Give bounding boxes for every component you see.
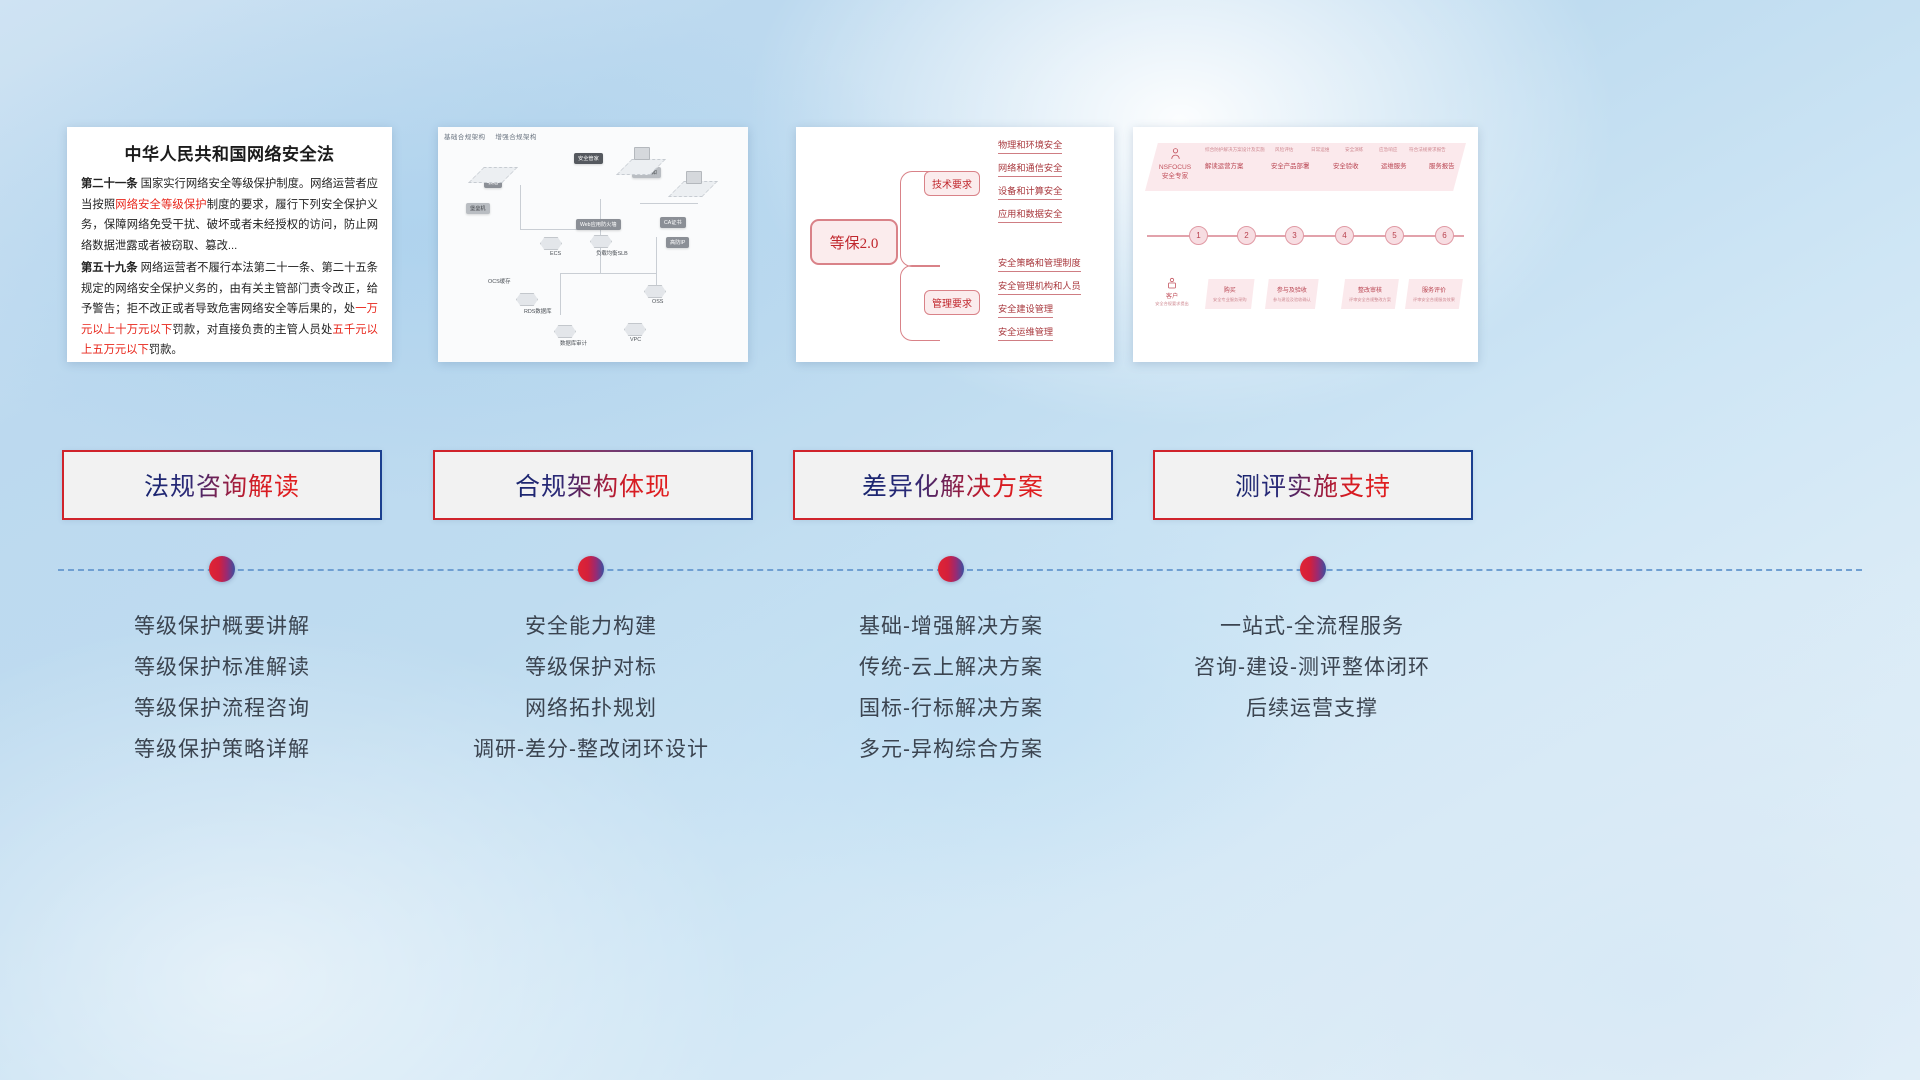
- section-label-box-4[interactable]: 测评实施支持: [1153, 450, 1473, 520]
- arch-hex: [590, 235, 612, 248]
- list-item: 咨询-建设-测评整体闭环: [1132, 647, 1492, 688]
- timeline: [0, 568, 1920, 572]
- nsfocus-note-3: 安全演练: [1345, 147, 1363, 153]
- timeline-dot-1[interactable]: [209, 556, 235, 582]
- arch-node-8: ECS: [550, 251, 561, 257]
- nsfocus-footer-2-title: 整改审核: [1358, 288, 1382, 294]
- mindmap-branch-technical: 技术要求: [924, 171, 980, 196]
- nsfocus-footer-2-note: 评审安全合规整改方案: [1349, 297, 1391, 303]
- nsfocus-step-6: 6: [1435, 226, 1454, 245]
- arch-node-6: 高防IP: [666, 237, 689, 248]
- section-label-text-1: 法规咨询解读: [144, 467, 300, 503]
- timeline-dot-4[interactable]: [1300, 556, 1326, 582]
- mindmap-leaf-t0: 物理和环境安全: [998, 137, 1062, 154]
- nsfocus-footer-0-title: 购买: [1224, 288, 1236, 294]
- law-article-59-text-b: 罚款，对直接负责的主管人员处: [172, 324, 332, 336]
- law-article-59-text-c: 罚款。: [149, 344, 183, 356]
- architecture-canvas: 基础合规架构增强合规架构 安全管家 云盾 堡垒机 态势感知 Web应用防火墙 C…: [438, 127, 748, 362]
- nsfocus-expert: NSFOCUS 安全专家: [1151, 147, 1199, 182]
- nsfocus-band-item-2: 安全验收: [1333, 161, 1359, 170]
- arch-node-4: Web应用防火墙: [576, 219, 621, 230]
- arch-node-2: 堡垒机: [466, 203, 490, 214]
- architecture-nodes: 安全管家 云盾 堡垒机 态势感知 Web应用防火墙 CA证书 高防IP 负载均衡…: [444, 141, 742, 356]
- mindmap-leaf-t1: 网络和通信安全: [998, 160, 1062, 177]
- arch-wire: [520, 185, 521, 229]
- section-label-box-2[interactable]: 合规架构体现: [433, 450, 753, 520]
- nsfocus-customer: 客户 安全合规要求提出: [1151, 277, 1193, 307]
- nsfocus-band-item-4: 服务报告: [1429, 161, 1455, 170]
- section-list-3: 基础-增强解决方案 传统-云上解决方案 国标-行标解决方案 多元-异构综合方案: [771, 606, 1131, 770]
- law-title: 中华人民共和国网络安全法: [81, 140, 378, 165]
- thumbnail-row: 中华人民共和国网络安全法 第二十一条 国家实行网络安全等级保护制度。网络运营者应…: [0, 127, 1920, 362]
- arch-wire: [560, 273, 656, 274]
- list-item: 安全能力构建: [411, 606, 771, 647]
- list-item: 调研-差分-整改闭环设计: [411, 729, 771, 770]
- arch-hex: [540, 237, 562, 250]
- arch-node-0: 安全管家: [574, 153, 603, 164]
- nsfocus-footer-3-note: 评审安全合规服务效果: [1413, 297, 1455, 303]
- arch-hex: [516, 293, 538, 306]
- list-item: 一站式-全流程服务: [1132, 606, 1492, 647]
- nsfocus-note-5: 符合法规要求报告: [1409, 147, 1446, 153]
- architecture-header-enhanced: 增强合规架构: [495, 134, 536, 141]
- list-item: 等级保护流程咨询: [42, 688, 402, 729]
- law-article-21: 第二十一条 国家实行网络安全等级保护制度。网络运营者应当按照网络安全等级保护制度…: [81, 174, 378, 256]
- list-item: 等级保护概要讲解: [42, 606, 402, 647]
- arch-wire: [640, 203, 698, 204]
- section-list-2: 安全能力构建 等级保护对标 网络拓扑规划 调研-差分-整改闭环设计: [411, 606, 771, 770]
- nsfocus-step-5: 5: [1385, 226, 1404, 245]
- nsfocus-canvas: NSFOCUS 安全专家 综合防护解决方案设计及实施 风险评估 日常运维 安全演…: [1133, 127, 1478, 362]
- arch-cube: [686, 171, 702, 184]
- nsfocus-note-2: 日常运维: [1311, 147, 1329, 153]
- card-architecture-diagram[interactable]: 基础合规架构增强合规架构 安全管家 云盾 堡垒机 态势感知 Web应用防火墙 C…: [438, 127, 748, 362]
- nsfocus-note-1: 风险评估: [1275, 147, 1293, 153]
- list-item: 国标-行标解决方案: [771, 688, 1131, 729]
- mindmap-branch-management: 管理要求: [924, 290, 980, 315]
- arch-hex: [644, 285, 666, 298]
- mindmap-leaf-m3: 安全运维管理: [998, 324, 1053, 341]
- nsfocus-band-item-3: 运维服务: [1381, 161, 1407, 170]
- list-item: 基础-增强解决方案: [771, 606, 1131, 647]
- list-item: 传统-云上解决方案: [771, 647, 1131, 688]
- law-article-59: 第五十九条 网络运营者不履行本法第二十一条、第二十五条规定的网络安全保护义务的，…: [81, 258, 378, 361]
- arch-hex: [554, 325, 576, 338]
- nsfocus-step-4: 4: [1335, 226, 1354, 245]
- card-mindmap[interactable]: 等保2.0 技术要求 物理和环境安全 网络和通信安全 设备和计算安全 应用和数据…: [796, 127, 1114, 362]
- timeline-dot-3[interactable]: [938, 556, 964, 582]
- nsfocus-step-2: 2: [1237, 226, 1256, 245]
- card-law-document[interactable]: 中华人民共和国网络安全法 第二十一条 国家实行网络安全等级保护制度。网络运营者应…: [67, 127, 392, 362]
- section-label-text-2: 合规架构体现: [515, 467, 671, 503]
- nsfocus-footer-3-title: 服务评价: [1422, 288, 1446, 294]
- law-article-21-highlight: 网络安全等级保护: [115, 199, 206, 211]
- arch-node-12: VPC: [630, 337, 641, 343]
- arch-node-13: 数据库审计: [560, 339, 587, 347]
- law-article-21-label: 第二十一条: [81, 178, 138, 190]
- nsfocus-footer-2: 整改审核 评审安全合规整改方案: [1341, 279, 1399, 309]
- list-item: 网络拓扑规划: [411, 688, 771, 729]
- mindmap-leaf-t2: 设备和计算安全: [998, 183, 1062, 200]
- section-list-1: 等级保护概要讲解 等级保护标准解读 等级保护流程咨询 等级保护策略详解: [42, 606, 402, 770]
- arch-node-9: OSS: [652, 299, 663, 305]
- card-service-timeline[interactable]: NSFOCUS 安全专家 综合防护解决方案设计及实施 风险评估 日常运维 安全演…: [1133, 127, 1478, 362]
- nsfocus-note-0: 综合防护解决方案设计及实施: [1205, 147, 1265, 153]
- arch-wire: [560, 273, 561, 315]
- law-article-59-label: 第五十九条: [81, 262, 138, 274]
- nsfocus-note-4: 应急响应: [1379, 147, 1397, 153]
- list-item: 等级保护对标: [411, 647, 771, 688]
- nsfocus-footer-1: 参与及验收 参与建设及验收确认: [1265, 279, 1319, 309]
- nsfocus-footer-3: 服务评价 评审安全合规服务效果: [1405, 279, 1463, 309]
- nsfocus-expert-brand: NSFOCUS: [1151, 164, 1199, 173]
- architecture-header: 基础合规架构增强合规架构: [444, 131, 537, 141]
- mindmap-leaf-m2: 安全建设管理: [998, 301, 1053, 318]
- nsfocus-expert-role: 安全专家: [1151, 173, 1199, 182]
- list-item: 后续运营支撑: [1132, 688, 1492, 729]
- nsfocus-band-item-1: 安全产品部署: [1271, 161, 1309, 170]
- arch-wire: [656, 237, 657, 293]
- timeline-dot-2[interactable]: [578, 556, 604, 582]
- architecture-header-basic: 基础合规架构: [444, 134, 485, 141]
- nsfocus-step-1: 1: [1189, 226, 1208, 245]
- arch-node-11: OCS缓存: [488, 277, 510, 285]
- section-label-text-3: 差异化解决方案: [862, 467, 1044, 503]
- list-item: 等级保护策略详解: [42, 729, 402, 770]
- section-label-text-4: 测评实施支持: [1235, 467, 1391, 503]
- nsfocus-step-3: 3: [1285, 226, 1304, 245]
- arch-cube: [634, 147, 650, 160]
- mindmap-leaf-m0: 安全策略和管理制度: [998, 255, 1081, 272]
- arch-node-7: 负载均衡SLB: [596, 249, 628, 257]
- nsfocus-footer-0-note: 安全专业服务采购: [1213, 297, 1247, 303]
- mindmap-canvas: 等保2.0 技术要求 物理和环境安全 网络和通信安全 设备和计算安全 应用和数据…: [796, 127, 1114, 362]
- section-lists: 等级保护概要讲解 等级保护标准解读 等级保护流程咨询 等级保护策略详解 安全能力…: [0, 606, 1920, 806]
- arch-hex: [624, 323, 646, 336]
- nsfocus-footer-1-note: 参与建设及验收确认: [1273, 297, 1311, 303]
- mindmap-root: 等保2.0: [810, 219, 898, 265]
- expert-person-icon: [1169, 147, 1182, 160]
- section-label-box-3[interactable]: 差异化解决方案: [793, 450, 1113, 520]
- law-body: 中华人民共和国网络安全法 第二十一条 国家实行网络安全等级保护制度。网络运营者应…: [67, 127, 392, 362]
- section-label-row: 法规咨询解读 合规架构体现 差异化解决方案 测评实施支持: [0, 450, 1920, 520]
- section-list-4: 一站式-全流程服务 咨询-建设-测评整体闭环 后续运营支撑: [1132, 606, 1492, 729]
- nsfocus-footer-0: 购买 安全专业服务采购: [1205, 279, 1255, 309]
- mindmap-leaf-t3: 应用和数据安全: [998, 206, 1062, 223]
- arch-plate: [468, 167, 518, 183]
- mindmap-leaf-m1: 安全管理机构和人员: [998, 278, 1081, 295]
- nsfocus-customer-note: 安全合规要求提出: [1151, 301, 1193, 307]
- arch-node-10: RDS数据库: [524, 307, 552, 315]
- arch-node-5: CA证书: [660, 217, 686, 228]
- customer-person-icon: [1166, 277, 1178, 289]
- list-item: 多元-异构综合方案: [771, 729, 1131, 770]
- section-label-box-1[interactable]: 法规咨询解读: [62, 450, 382, 520]
- list-item: 等级保护标准解读: [42, 647, 402, 688]
- nsfocus-band-item-0: 解读运营方案: [1205, 161, 1243, 170]
- nsfocus-footer-1-title: 参与及验收: [1277, 288, 1307, 294]
